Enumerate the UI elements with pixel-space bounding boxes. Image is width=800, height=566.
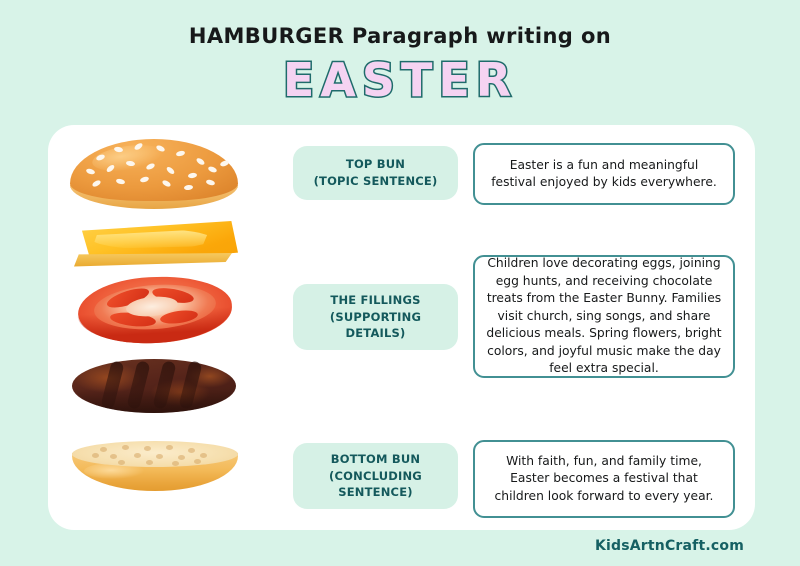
label-the-fillings: THE FILLINGS(SUPPORTING DETAILS) [293, 284, 458, 350]
page-header: HAMBURGER Paragraph writing on EASTER [0, 0, 800, 103]
site-credit: KidsArtnCraft.com [595, 538, 744, 554]
paragraph-rows: TOP BUN(TOPIC SENTENCE) Easter is a fun … [48, 125, 755, 530]
paragraph-box-topic-sentence: Easter is a fun and meaningful festival … [473, 143, 735, 205]
paragraph-text-topic-sentence: Easter is a fun and meaningful festival … [486, 157, 722, 192]
label-bottom-bun-text: BOTTOM BUN(CONCLUDING SENTENCE) [299, 451, 452, 501]
label-top-bun: TOP BUN(TOPIC SENTENCE) [293, 146, 458, 200]
content-card: TOP BUN(TOPIC SENTENCE) Easter is a fun … [48, 125, 755, 530]
paragraph-box-concluding-sentence: With faith, fun, and family time, Easter… [473, 440, 735, 518]
label-bottom-bun: BOTTOM BUN(CONCLUDING SENTENCE) [293, 443, 458, 509]
paragraph-text-supporting-details: Children love decorating eggs, joining e… [486, 255, 722, 377]
label-the-fillings-text: THE FILLINGS(SUPPORTING DETAILS) [299, 292, 452, 342]
paragraph-text-concluding-sentence: With faith, fun, and family time, Easter… [486, 453, 722, 505]
label-top-bun-text: TOP BUN(TOPIC SENTENCE) [314, 156, 438, 189]
page-title-line-1: HAMBURGER Paragraph writing on [0, 26, 800, 47]
page-title-line-2: EASTER [0, 57, 800, 103]
paragraph-box-supporting-details: Children love decorating eggs, joining e… [473, 255, 735, 378]
